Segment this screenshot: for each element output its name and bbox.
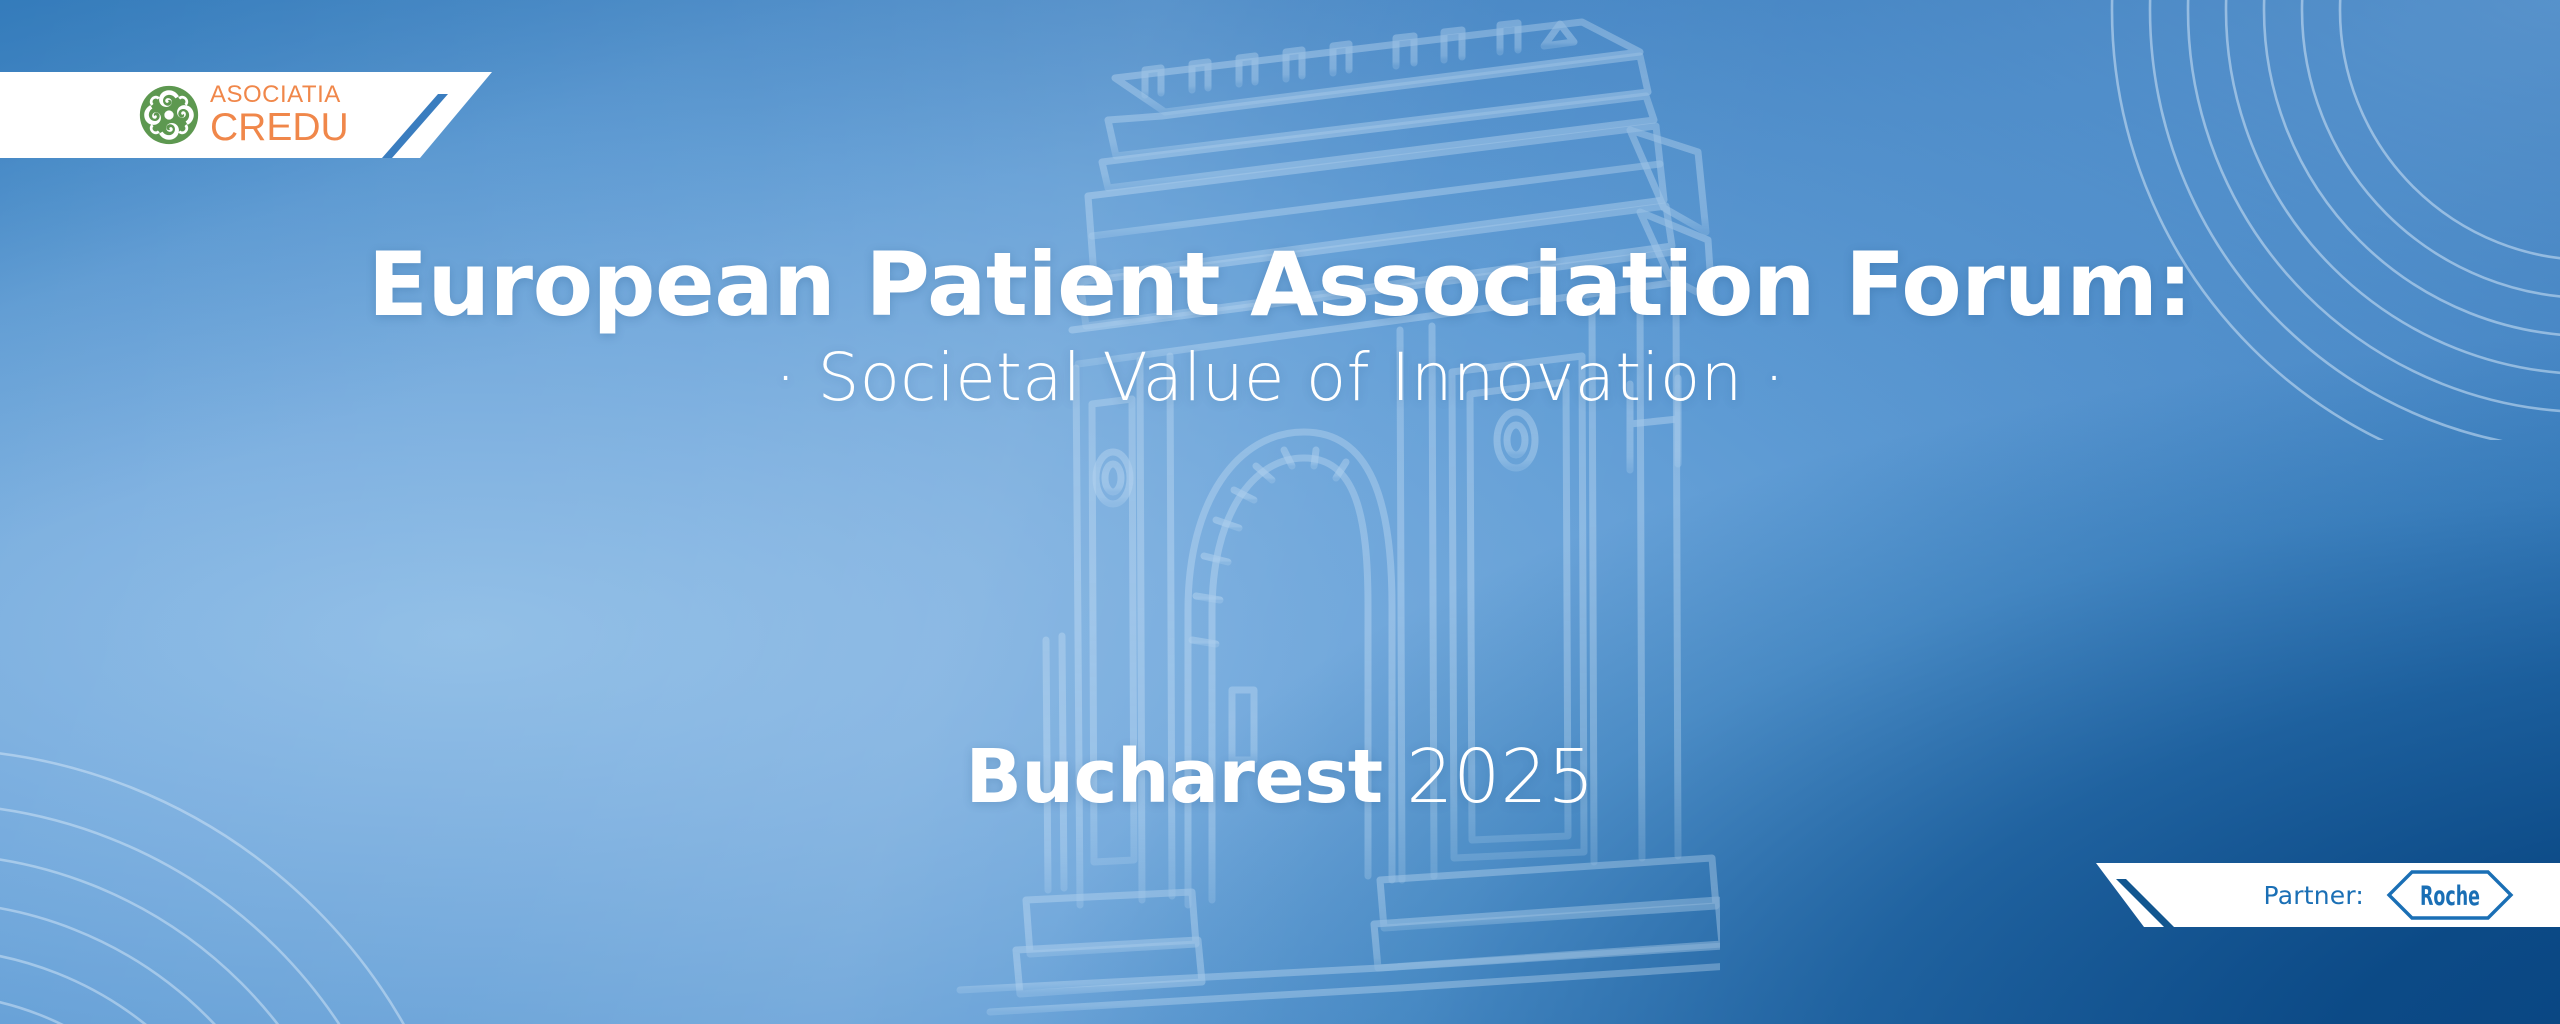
organizer-logo: ASOCIATIA CREDU [138,83,349,147]
event-banner: ASOCIATIA CREDU European Patient Associa… [0,0,2560,1024]
organizer-name-line1: ASOCIATIA [210,83,349,107]
partner-label: Partner: [2264,881,2364,910]
event-year: 2025 [1406,734,1594,820]
partner-content: Partner: Roche [2078,863,2560,927]
organizer-name-line2: CREDU [210,108,349,147]
page-subtitle: · Societal Value of Innovation · [0,339,2560,417]
event-city: Bucharest [965,734,1382,820]
roche-logo-text: Roche [2420,881,2480,912]
roche-hexagon-logo[interactable]: Roche [2386,869,2514,921]
celtic-knot-mandala-icon [138,84,200,146]
event-location-year: Bucharest 2025 [0,740,2560,814]
organizer-logo-banner: ASOCIATIA CREDU [0,72,492,158]
headline-block: European Patient Association Forum: · So… [0,238,2560,417]
page-title: European Patient Association Forum: [0,238,2560,331]
